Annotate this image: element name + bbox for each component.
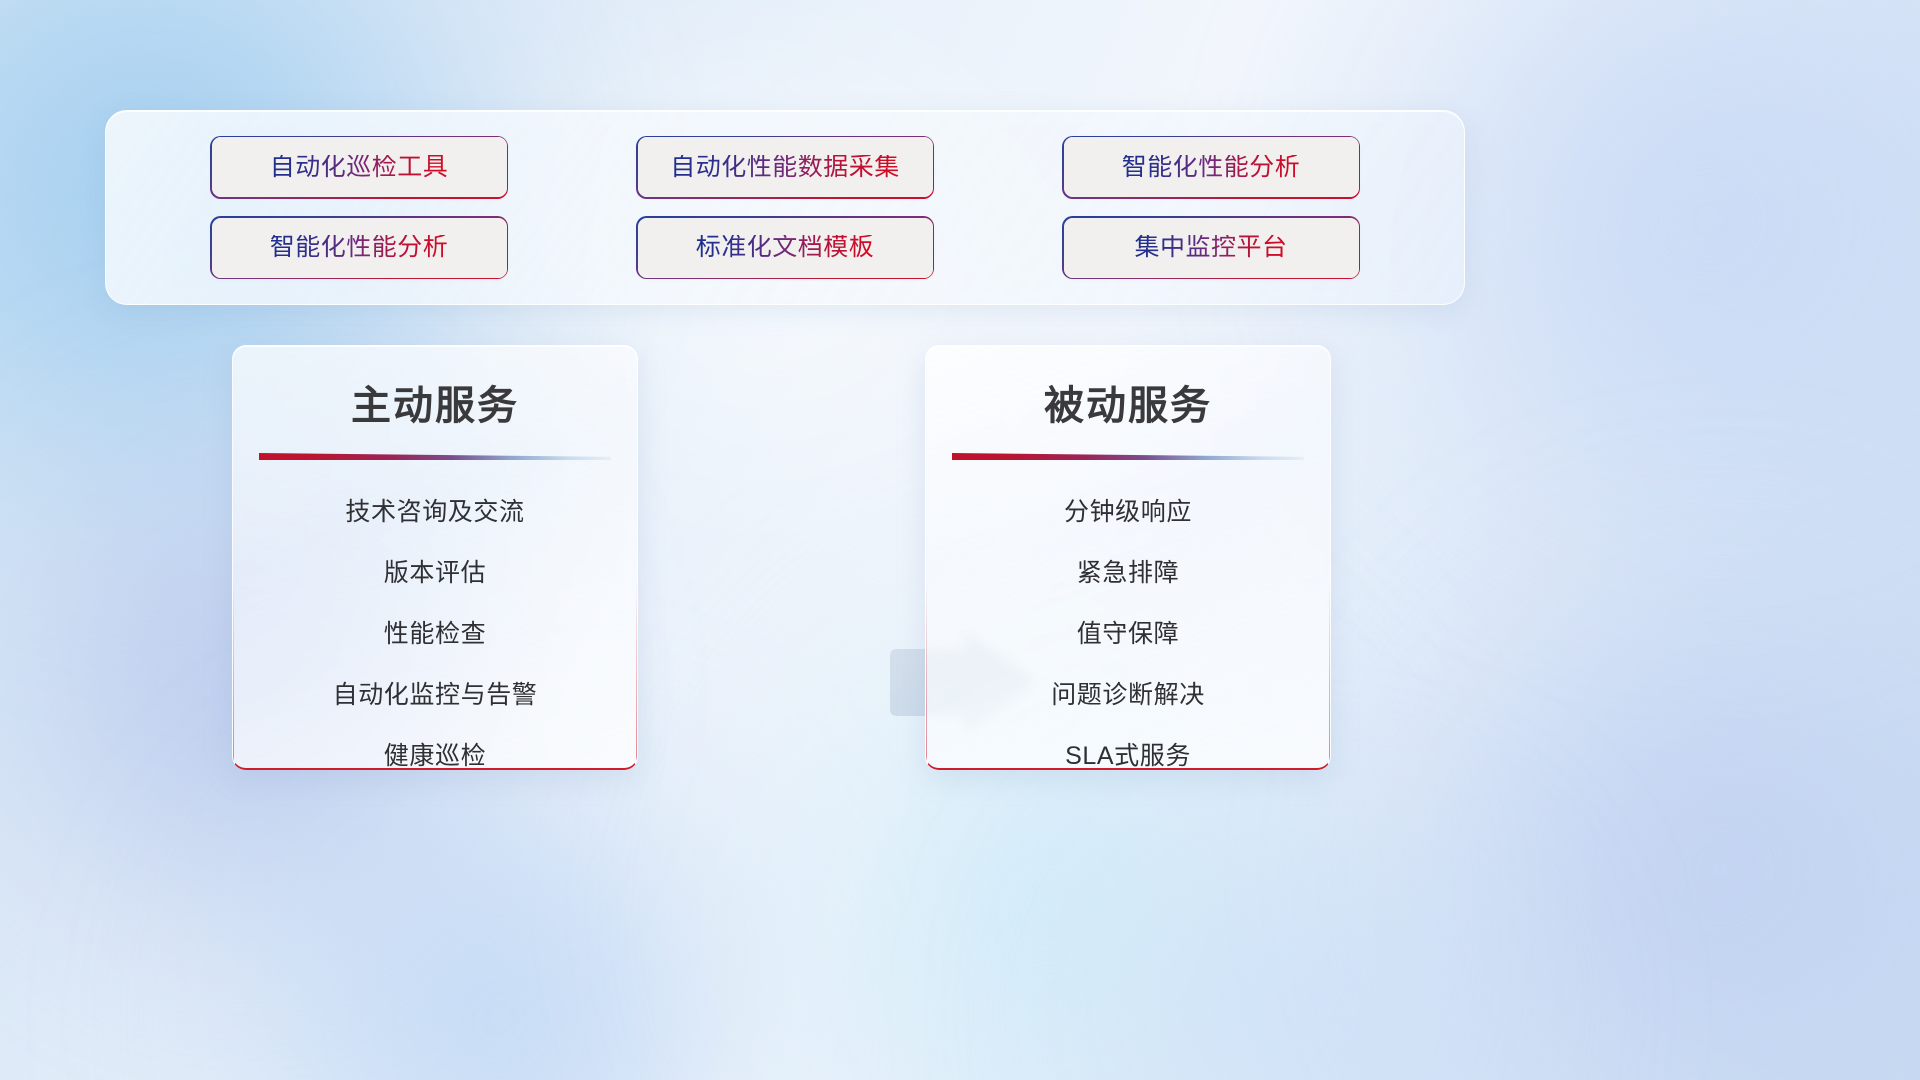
capability-chip-5[interactable]: 集中监控平台 [1064, 218, 1359, 278]
service-list-item: 版本评估 [233, 543, 637, 604]
service-item-list: 分钟级响应 紧急排障 值守保障 问题诊断解决 SLA式服务 [926, 482, 1330, 770]
capability-chip-1[interactable]: 自动化性能数据采集 [638, 137, 933, 197]
service-item-list: 技术咨询及交流 版本评估 性能检查 自动化监控与告警 健康巡检 [233, 482, 637, 770]
service-list-item: 健康巡检 [233, 726, 637, 770]
service-list-item: 性能检查 [233, 604, 637, 665]
service-list-item: 自动化监控与告警 [233, 665, 637, 726]
service-list-item: 紧急排障 [926, 543, 1330, 604]
capability-chip-label: 集中监控平台 [1134, 235, 1287, 260]
background-glow-c [120, 760, 880, 1080]
background-glow-f [1370, 520, 1920, 1080]
capability-chip-0[interactable]: 自动化巡检工具 [212, 137, 507, 197]
service-card-title: 主动服务 [233, 373, 637, 431]
capability-chip-label: 标准化文档模板 [696, 235, 875, 260]
service-list-item: SLA式服务 [926, 726, 1330, 770]
service-card-active: 主动服务 技术咨询及交流 版本评估 性能检查 自动化监控与告警 健康巡检 [232, 345, 638, 770]
service-list-item: 技术咨询及交流 [233, 482, 637, 543]
capability-panel: 自动化巡检工具 自动化性能数据采集 智能化性能分析 智能化性能分析 标准化文档模… [105, 110, 1465, 305]
background-glow-h [980, 820, 1620, 1080]
capability-chip-2[interactable]: 智能化性能分析 [1064, 137, 1359, 197]
service-card-passive: 被动服务 分钟级响应 紧急排障 值守保障 问题诊断解决 SLA式服务 [925, 345, 1331, 770]
service-list-item: 分钟级响应 [926, 482, 1330, 543]
capability-chip-label: 智能化性能分析 [1122, 155, 1301, 180]
title-divider [259, 453, 611, 460]
capability-chip-grid: 自动化巡检工具 自动化性能数据采集 智能化性能分析 智能化性能分析 标准化文档模… [106, 111, 1464, 304]
capability-chip-label: 自动化巡检工具 [270, 155, 449, 180]
service-list-item: 值守保障 [926, 604, 1330, 665]
capability-chip-label: 自动化性能数据采集 [670, 155, 900, 180]
diagram-canvas: 自动化巡检工具 自动化性能数据采集 智能化性能分析 智能化性能分析 标准化文档模… [0, 0, 1920, 1080]
capability-chip-3[interactable]: 智能化性能分析 [212, 218, 507, 278]
service-card-title: 被动服务 [926, 373, 1330, 431]
capability-chip-label: 智能化性能分析 [270, 235, 449, 260]
title-divider [952, 453, 1304, 460]
capability-chip-4[interactable]: 标准化文档模板 [638, 218, 933, 278]
service-list-item: 问题诊断解决 [926, 665, 1330, 726]
